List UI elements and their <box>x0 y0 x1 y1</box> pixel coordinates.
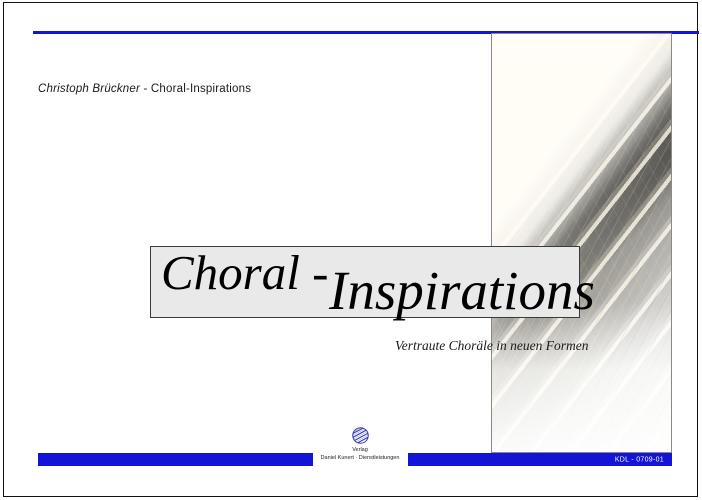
main-title-inner: Choral - Inspirations <box>151 247 579 317</box>
author-name: Christoph Brückner <box>38 83 140 95</box>
cover-page: Christoph Brückner - Choral-Inspirations… <box>0 0 702 500</box>
series-name: Choral-Inspirations <box>151 83 251 95</box>
image-bottom-fade <box>492 302 671 452</box>
cover-image-panel <box>491 33 672 453</box>
catalog-code: KDL - 0709-01 <box>615 456 664 463</box>
title-word-choral: Choral - <box>161 248 328 297</box>
author-separator: - <box>143 83 147 95</box>
main-title-box: Choral - Inspirations <box>150 246 580 318</box>
title-word-inspirations: Inspirations <box>329 263 595 318</box>
publisher-subline: Daniel Kunert · Dienstleistungen <box>299 454 421 462</box>
subtitle-text: Vertraute Choräle in neuen Formen <box>395 338 588 354</box>
globe-emblem-icon <box>352 427 369 444</box>
footer-bar-left <box>38 453 313 466</box>
publisher-name: Verlag <box>299 446 421 454</box>
footer-bar-right: KDL - 0709-01 <box>408 453 672 466</box>
publisher-block: Verlag Daniel Kunert · Dienstleistungen <box>299 427 421 463</box>
author-series-line: Christoph Brückner - Choral-Inspirations <box>38 83 251 95</box>
